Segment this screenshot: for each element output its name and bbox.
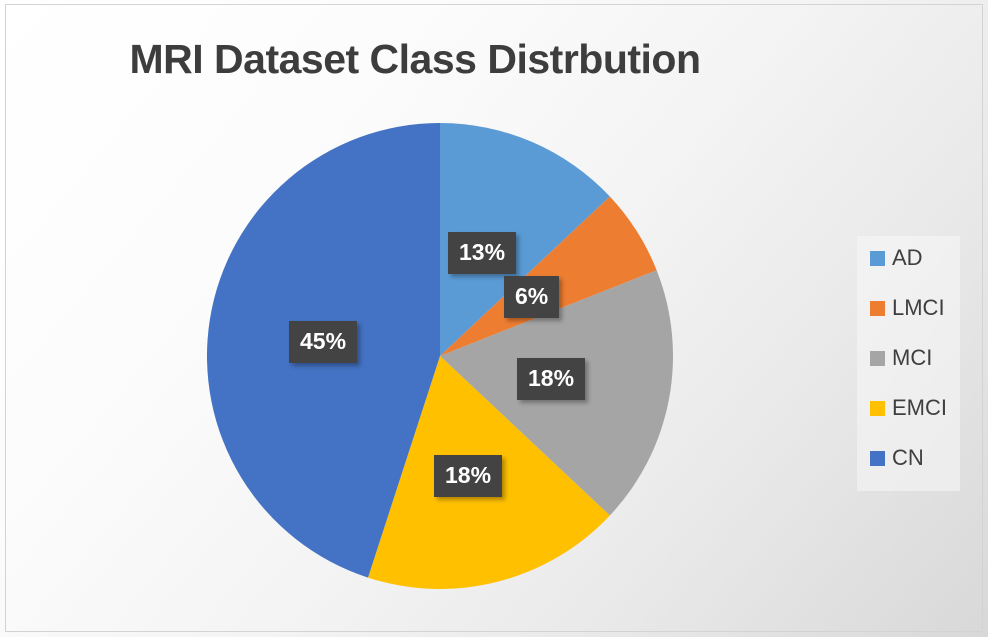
legend-item-lmci[interactable]: LMCI (870, 296, 945, 320)
legend-item-cn[interactable]: CN (870, 446, 924, 470)
data-label-emci: 18% (434, 455, 502, 497)
legend-swatch-cn (870, 451, 885, 466)
legend-swatch-mci (870, 351, 885, 366)
legend-label-mci: MCI (892, 347, 932, 369)
legend-swatch-lmci (870, 301, 885, 316)
data-label-mci: 18% (517, 358, 585, 400)
page-title: MRI Dataset Class Distrbution (0, 36, 830, 83)
legend: AD LMCI MCI EMCI CN (857, 236, 960, 491)
pie-chart (207, 123, 673, 589)
legend-label-cn: CN (892, 447, 924, 469)
legend-item-ad[interactable]: AD (870, 246, 923, 270)
chart-canvas: MRI Dataset Class Distrbution 13% 6% 18%… (0, 0, 988, 637)
legend-label-emci: EMCI (892, 397, 947, 419)
legend-item-emci[interactable]: EMCI (870, 396, 947, 420)
pie-svg (207, 123, 673, 589)
data-label-cn: 45% (289, 321, 357, 363)
legend-label-lmci: LMCI (892, 297, 945, 319)
data-label-ad: 13% (448, 232, 516, 274)
legend-swatch-emci (870, 401, 885, 416)
legend-item-mci[interactable]: MCI (870, 346, 932, 370)
legend-swatch-ad (870, 251, 885, 266)
legend-label-ad: AD (892, 247, 923, 269)
data-label-lmci: 6% (504, 276, 559, 318)
